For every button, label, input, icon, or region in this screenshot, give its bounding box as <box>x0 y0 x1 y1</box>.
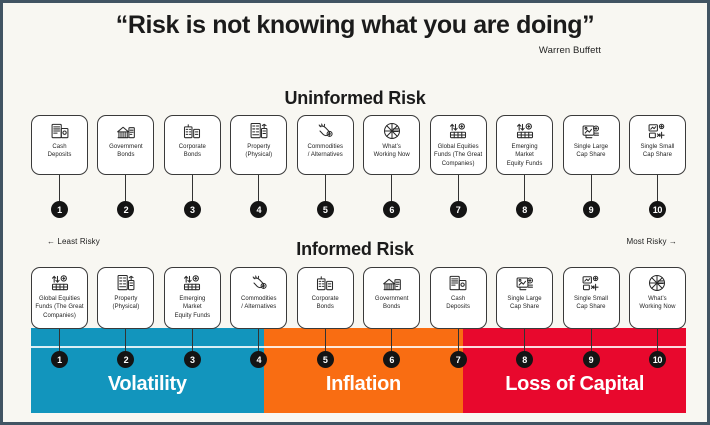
rank-number-badge: 6 <box>383 351 400 368</box>
risk-card[interactable]: Corporate Bonds <box>297 267 354 329</box>
rank-number-badge: 4 <box>250 351 267 368</box>
risk-card-label: Commodities / Alternatives <box>241 295 277 312</box>
risk-card[interactable]: Government Bonds <box>97 115 154 175</box>
number-marker-cell: 1 <box>31 351 88 368</box>
commodities-alternatives-icon <box>249 273 269 293</box>
informed-risk-card-row: Global Equities Funds (The Great Compani… <box>31 267 686 329</box>
risk-card-label: Global Equities Funds (The Great Compani… <box>35 295 83 320</box>
commodities-alternatives-icon <box>315 121 335 141</box>
single-large-cap-share-icon <box>515 273 535 293</box>
number-marker-cell: 6 <box>363 201 420 218</box>
risk-card-label: Single Small Cap Share <box>640 143 674 160</box>
number-marker-cell: 10 <box>629 201 686 218</box>
risk-card[interactable]: Property (Physical) <box>97 267 154 329</box>
rank-number-badge: 1 <box>51 351 68 368</box>
uninformed-number-markers: 12345678910 <box>31 201 686 218</box>
number-marker-cell: 5 <box>297 351 354 368</box>
rank-number-badge: 7 <box>450 201 467 218</box>
risk-card[interactable]: Emerging Market Equity Funds <box>496 115 553 175</box>
number-marker-cell: 2 <box>97 351 154 368</box>
risk-card[interactable]: Single Large Cap Share <box>496 267 553 329</box>
rank-number-badge: 6 <box>383 201 400 218</box>
risk-card-label: Global Equities Funds (The Great Compani… <box>434 143 482 168</box>
risk-card[interactable]: Single Small Cap Share <box>629 115 686 175</box>
rank-number-badge: 10 <box>649 201 666 218</box>
rank-number-badge: 1 <box>51 201 68 218</box>
risk-card[interactable]: Commodities / Alternatives <box>297 115 354 175</box>
risk-card-label: Cash Deposits <box>48 143 72 160</box>
number-marker-cell: 7 <box>430 201 487 218</box>
section-heading-informed: Informed Risk <box>3 239 707 260</box>
rank-number-badge: 3 <box>184 351 201 368</box>
single-small-cap-share-icon <box>581 273 601 293</box>
section-heading-uninformed: Uninformed Risk <box>3 88 707 109</box>
number-marker-cell: 4 <box>230 201 287 218</box>
uninformed-risk-card-row: Cash DepositsGovernment BondsCorporate B… <box>31 115 686 175</box>
rank-number-badge: 4 <box>250 201 267 218</box>
single-large-cap-share-icon <box>581 121 601 141</box>
rank-number-badge: 10 <box>649 351 666 368</box>
number-marker-cell: 5 <box>297 201 354 218</box>
risk-card[interactable]: Commodities / Alternatives <box>230 267 287 329</box>
risk-card-label: Property (Physical) <box>245 143 272 160</box>
risk-card[interactable]: Emerging Market Equity Funds <box>164 267 221 329</box>
risk-card-label: What’s Working Now <box>374 143 410 160</box>
emerging-market-equity-funds-icon <box>182 273 202 293</box>
global-equities-funds-icon <box>448 121 468 141</box>
global-equities-funds-icon <box>50 273 70 293</box>
risk-card-label: Property (Physical) <box>113 295 140 312</box>
risk-card-label: Single Small Cap Share <box>574 295 608 312</box>
quote-attribution: Warren Buffett <box>539 45 601 56</box>
number-marker-cell: 9 <box>563 201 620 218</box>
rank-number-badge: 9 <box>583 201 600 218</box>
risk-card[interactable]: Cash Deposits <box>430 267 487 329</box>
rank-number-badge: 8 <box>516 201 533 218</box>
number-marker-cell: 3 <box>164 351 221 368</box>
property-physical-icon <box>249 121 269 141</box>
page-title: “Risk is not knowing what you are doing” <box>3 11 707 40</box>
rank-number-badge: 7 <box>450 351 467 368</box>
rank-number-badge: 5 <box>317 351 334 368</box>
risk-card[interactable]: What’s Working Now <box>629 267 686 329</box>
number-marker-cell: 10 <box>629 351 686 368</box>
risk-card[interactable]: Single Large Cap Share <box>563 115 620 175</box>
number-marker-cell: 9 <box>563 351 620 368</box>
risk-card-label: Corporate Bonds <box>312 295 339 312</box>
risk-card-label: Commodities / Alternatives <box>307 143 343 160</box>
risk-card[interactable]: What’s Working Now <box>363 115 420 175</box>
risk-card[interactable]: Global Equities Funds (The Great Compani… <box>31 267 88 329</box>
corporate-bonds-icon <box>315 273 335 293</box>
number-marker-cell: 6 <box>363 351 420 368</box>
risk-card[interactable]: Global Equities Funds (The Great Compani… <box>430 115 487 175</box>
risk-card[interactable]: Corporate Bonds <box>164 115 221 175</box>
government-bonds-icon <box>382 273 402 293</box>
number-marker-cell: 8 <box>496 201 553 218</box>
risk-card[interactable]: Government Bonds <box>363 267 420 329</box>
rank-number-badge: 2 <box>117 201 134 218</box>
risk-card[interactable]: Cash Deposits <box>31 115 88 175</box>
emerging-market-equity-funds-icon <box>515 121 535 141</box>
number-marker-cell: 3 <box>164 201 221 218</box>
risk-card-label: Emerging Market Equity Funds <box>175 295 211 320</box>
government-bonds-icon <box>116 121 136 141</box>
informed-number-markers: 12345678910 <box>31 351 686 368</box>
rank-number-badge: 9 <box>583 351 600 368</box>
rank-number-badge: 5 <box>317 201 334 218</box>
infographic-poster: “Risk is not knowing what you are doing”… <box>0 0 710 425</box>
property-physical-icon <box>116 273 136 293</box>
number-marker-cell: 8 <box>496 351 553 368</box>
risk-card-label: Government Bonds <box>375 295 409 312</box>
risk-card[interactable]: Property (Physical) <box>230 115 287 175</box>
cash-deposits-icon <box>448 273 468 293</box>
risk-card-label: Single Large Cap Share <box>574 143 608 160</box>
rank-number-badge: 2 <box>117 351 134 368</box>
risk-card-label: Emerging Market Equity Funds <box>507 143 543 168</box>
risk-band-label: Volatility <box>108 373 187 396</box>
single-small-cap-share-icon <box>647 121 667 141</box>
risk-band-label: Inflation <box>326 373 401 396</box>
number-marker-cell: 2 <box>97 201 154 218</box>
rank-number-badge: 8 <box>516 351 533 368</box>
number-marker-cell: 1 <box>31 201 88 218</box>
risk-band-label: Loss of Capital <box>505 373 644 396</box>
cash-deposits-icon <box>50 121 70 141</box>
risk-card-label: Corporate Bonds <box>179 143 206 160</box>
risk-card[interactable]: Single Small Cap Share <box>563 267 620 329</box>
whats-working-now-icon <box>647 273 667 293</box>
whats-working-now-icon <box>382 121 402 141</box>
number-marker-cell: 7 <box>430 351 487 368</box>
risk-card-label: Single Large Cap Share <box>507 295 541 312</box>
corporate-bonds-icon <box>182 121 202 141</box>
number-marker-cell: 4 <box>230 351 287 368</box>
risk-card-label: Government Bonds <box>109 143 143 160</box>
risk-card-label: Cash Deposits <box>446 295 470 312</box>
risk-card-label: What’s Working Now <box>639 295 675 312</box>
rank-number-badge: 3 <box>184 201 201 218</box>
